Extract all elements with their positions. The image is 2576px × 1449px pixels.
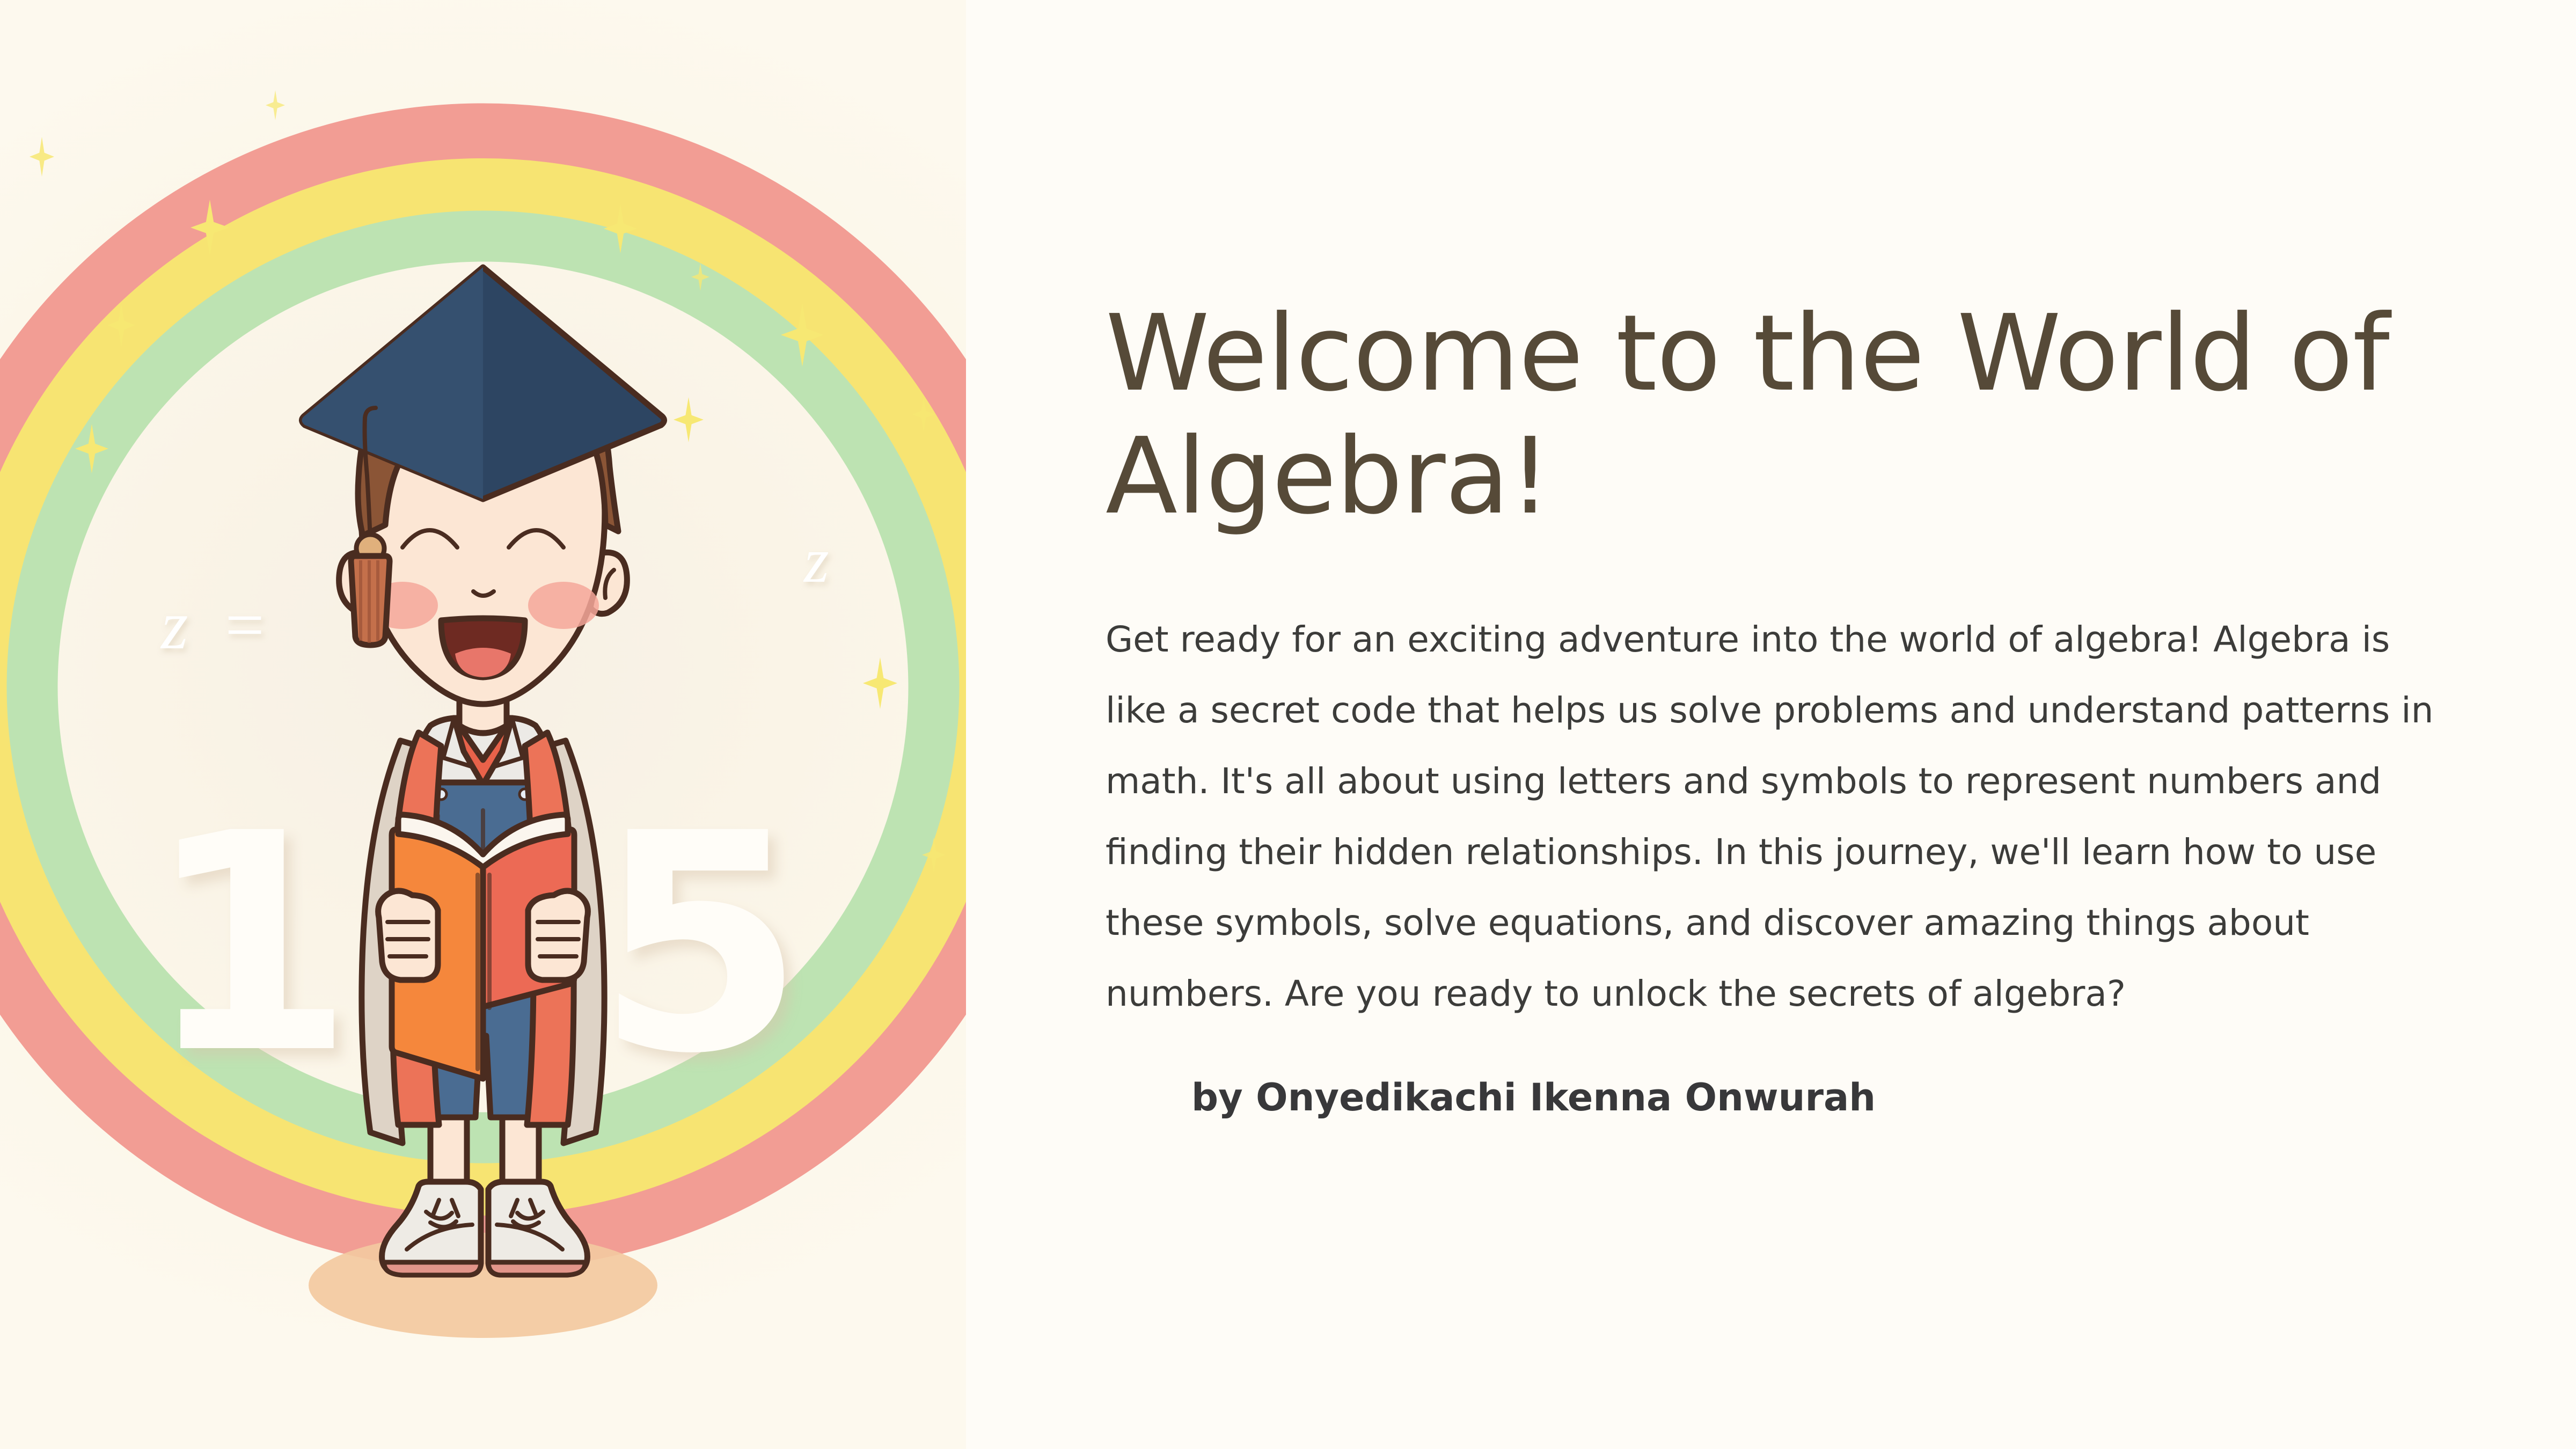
content-panel: Welcome to the World of Algebra! Get rea…	[966, 0, 2576, 1449]
hand-left	[378, 891, 438, 980]
slide-root: 145 z = z .ol { stroke:#4a2c20; stroke-w…	[0, 0, 2576, 1449]
shoe-left	[382, 1182, 481, 1275]
content-inner: Welcome to the World of Algebra! Get rea…	[1106, 292, 2463, 1124]
shoe-right	[488, 1182, 587, 1275]
author-byline: by Onyedikachi Ikenna Onwurah	[1191, 1071, 2463, 1124]
cheek-right	[528, 582, 599, 629]
intro-paragraph: Get ready for an exciting adventure into…	[1106, 604, 2447, 1029]
illustration-panel: 145 z = z .ol { stroke:#4a2c20; stroke-w…	[0, 0, 966, 1449]
algebra-mark-z: z	[804, 523, 829, 597]
student-character-illustration: .ol { stroke:#4a2c20; stroke-width:11; s…	[241, 177, 724, 1347]
hand-right	[528, 891, 588, 980]
page-title: Welcome to the World of Algebra!	[1106, 292, 2447, 539]
